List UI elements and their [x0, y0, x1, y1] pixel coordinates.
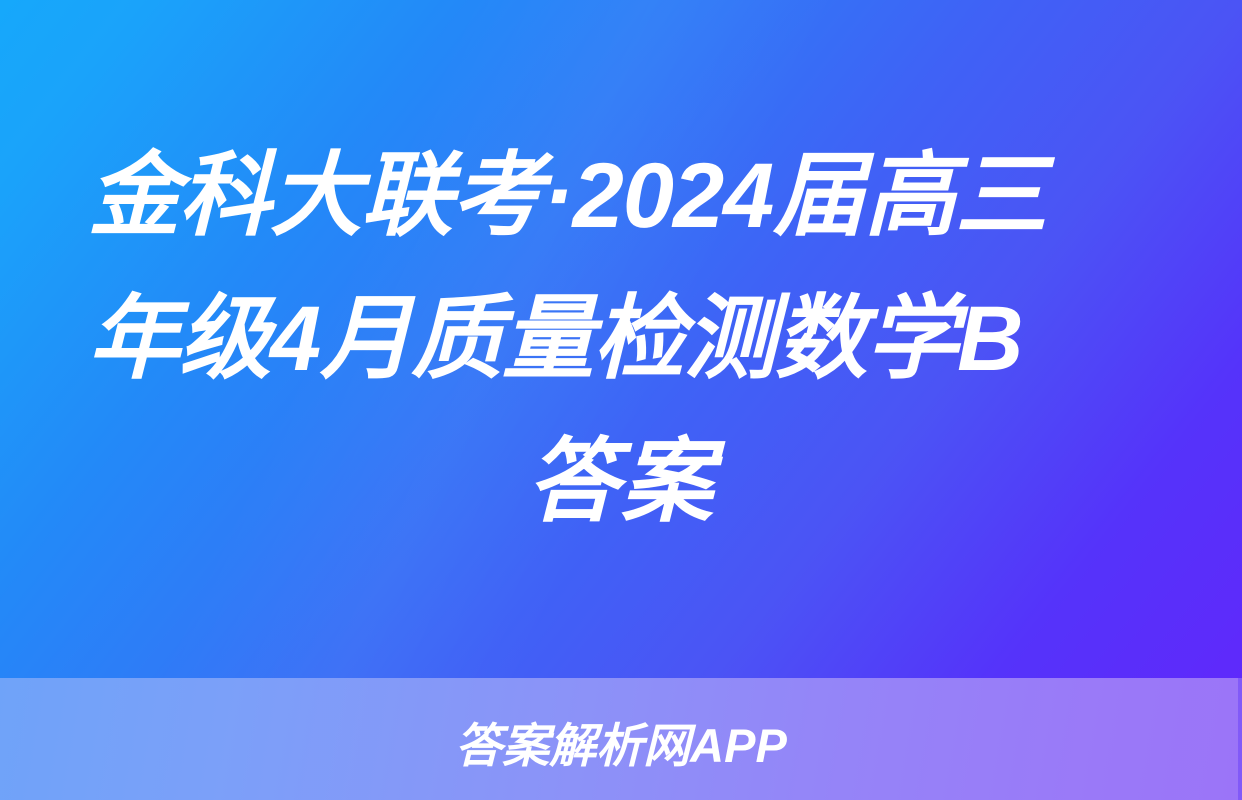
- page-title-line-3: 答案: [88, 411, 1154, 554]
- page-title-line-2: 年级4月质量检测数学B: [88, 268, 1154, 411]
- watermark-bar: 答案解析网APP: [0, 678, 1242, 800]
- page-title: 金科大联考·2024届高三 年级4月质量检测数学B 答案: [88, 125, 1154, 554]
- hero-panel: 金科大联考·2024届高三 年级4月质量检测数学B 答案: [0, 0, 1242, 678]
- answer-poster: 金科大联考·2024届高三 年级4月质量检测数学B 答案 答案解析网APP: [0, 0, 1242, 800]
- page-title-line-1: 金科大联考·2024届高三: [88, 125, 1154, 268]
- watermark-brand-label: 答案解析网APP: [455, 707, 787, 776]
